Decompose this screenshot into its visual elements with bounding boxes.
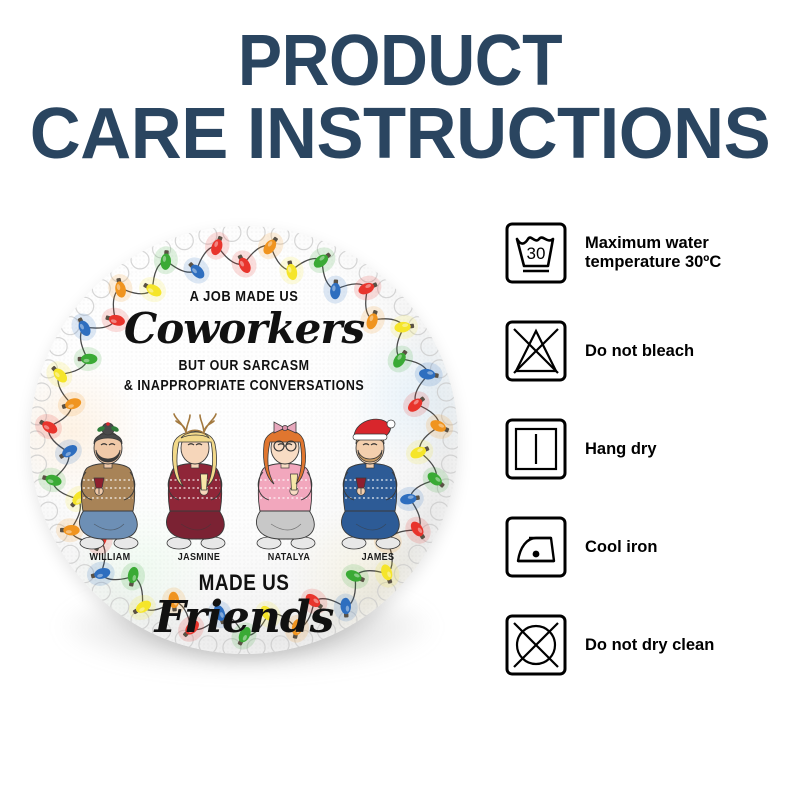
character-james — [341, 419, 400, 549]
care-instructions-page: PRODUCT CARE INSTRUCTIONS A JOB MADE US … — [0, 0, 800, 800]
title-line-product: PRODUCT — [32, 26, 768, 97]
character-illustrations — [70, 412, 420, 552]
care-row-hang-dry: Hang dry — [505, 418, 795, 480]
care-label-cool-iron: Cool iron — [585, 538, 657, 557]
cool-iron-icon — [505, 516, 567, 578]
title-line-care-instructions: CARE INSTRUCTIONS — [8, 99, 792, 170]
character-jasmine — [166, 414, 225, 549]
page-title: PRODUCT CARE INSTRUCTIONS — [0, 26, 800, 169]
care-label-hang-dry: Hang dry — [585, 440, 657, 459]
care-row-wash-tub-30: 30Maximum water temperature 30ºC — [505, 222, 795, 284]
character-william — [79, 422, 138, 549]
care-row-do-not-bleach: Do not bleach — [505, 320, 795, 382]
care-row-do-not-dry-clean: Do not dry clean — [505, 614, 795, 676]
do-not-bleach-icon — [505, 320, 567, 382]
care-label-wash-tub-30: Maximum water temperature 30ºC — [585, 234, 721, 272]
care-label-do-not-dry-clean: Do not dry clean — [585, 636, 714, 655]
care-row-cool-iron: Cool iron — [505, 516, 795, 578]
care-symbol-list: 30Maximum water temperature 30ºCDo not b… — [505, 222, 795, 712]
do-not-dry-clean-icon — [505, 614, 567, 676]
hang-dry-icon — [505, 418, 567, 480]
wash-tub-30-icon: 30 — [505, 222, 567, 284]
care-label-do-not-bleach: Do not bleach — [585, 342, 694, 361]
svg-text:30: 30 — [527, 244, 546, 263]
product-image-pillow: A JOB MADE US Coworkers BUT OUR SARCASM … — [22, 222, 468, 668]
character-natalya — [256, 422, 315, 549]
pillow-body: A JOB MADE US Coworkers BUT OUR SARCASM … — [30, 226, 458, 654]
